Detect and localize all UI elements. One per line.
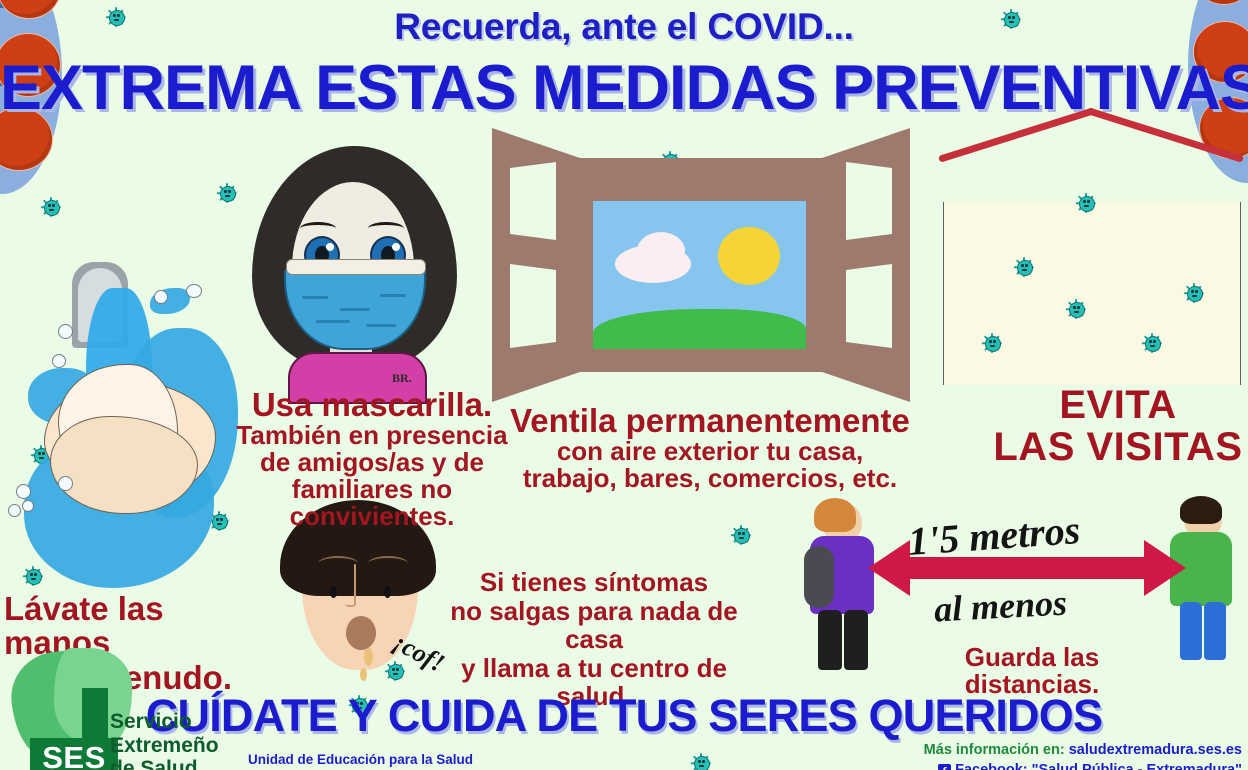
handwash-line1: Lávate las manos <box>4 592 232 661</box>
mask-title: Usa mascarilla. <box>212 388 532 422</box>
distance-arrow-left-head <box>868 540 910 596</box>
virus-particle-icon <box>1141 332 1163 354</box>
ventilate-line2: trabajo, bares, comercios, etc. <box>510 465 910 492</box>
virus-particle-icon <box>981 332 1003 354</box>
virus-particle-icon <box>1075 192 1097 214</box>
virus-particle-icon <box>216 182 238 204</box>
facebook-icon: f <box>938 764 951 770</box>
ses-name-line3: de Salud <box>110 757 219 770</box>
girl-wearing-mask-illustration: BR. <box>252 146 457 396</box>
ventilate-line1: con aire exterior tu casa, <box>510 438 910 465</box>
facebook-label: Facebook: "Salud Pública - Extremadura" <box>955 762 1242 770</box>
house-with-viruses-illustration <box>935 140 1247 385</box>
more-info-line: Más información en: saludextremadura.ses… <box>924 742 1242 758</box>
ses-abbr-box: SES <box>30 738 118 770</box>
virus-particle-icon <box>690 752 712 770</box>
washing-hands-illustration <box>0 232 246 594</box>
virus-particle-icon <box>1183 282 1205 304</box>
visits-line2: LAS VISITAS <box>992 426 1244 468</box>
mask-line3: familiares no convivientes. <box>212 476 532 530</box>
poster-kicker: Recuerda, ante el COVID... <box>0 6 1248 48</box>
visits-line1: EVITA <box>992 384 1244 426</box>
facebook-line[interactable]: f Facebook: "Salud Pública - Extremadura… <box>938 762 1242 770</box>
symptoms-line1: Si tienes síntomas <box>424 568 764 597</box>
artist-signature: BR. <box>392 371 412 386</box>
visits-caption: EVITA LAS VISITAS <box>992 384 1244 469</box>
virus-particle-icon <box>730 524 752 546</box>
virus-particle-icon <box>1013 256 1035 278</box>
ventilate-caption: Ventila permanentemente con aire exterio… <box>510 404 910 492</box>
ventilate-title: Ventila permanentemente <box>510 404 910 438</box>
virus-particle-icon <box>1065 298 1087 320</box>
distance-script-bottom: al menos <box>933 582 1068 631</box>
ses-abbr: SES <box>30 738 118 770</box>
ses-logo: SES Servicio Extremeño de Salud <box>6 652 236 770</box>
open-window-illustration <box>492 128 910 418</box>
ses-name: Servicio Extremeño de Salud <box>110 710 219 770</box>
ses-name-line2: Extremeño <box>110 734 219 758</box>
more-info-url[interactable]: saludextremadura.ses.es <box>1069 742 1242 758</box>
mask-line2: de amigos/as y de <box>212 449 532 476</box>
mask-line1: También en presencia <box>212 422 532 449</box>
more-info-label: Más información en: <box>924 742 1065 758</box>
distance-arrow-right-head <box>1144 540 1186 596</box>
virus-particle-icon <box>40 196 62 218</box>
ses-name-line1: Servicio <box>110 710 219 734</box>
symptoms-line2: no salgas para nada de casa <box>424 597 764 654</box>
mask-caption: Usa mascarilla. También en presencia de … <box>212 388 532 530</box>
poster-headline: EXTREMA ESTAS MEDIDAS PREVENTIVAS <box>0 52 1248 124</box>
poster-canvas: Recuerda, ante el COVID... EXTREMA ESTAS… <box>0 0 1248 770</box>
unit-label: Unidad de Educación para la Salud <box>248 752 473 767</box>
